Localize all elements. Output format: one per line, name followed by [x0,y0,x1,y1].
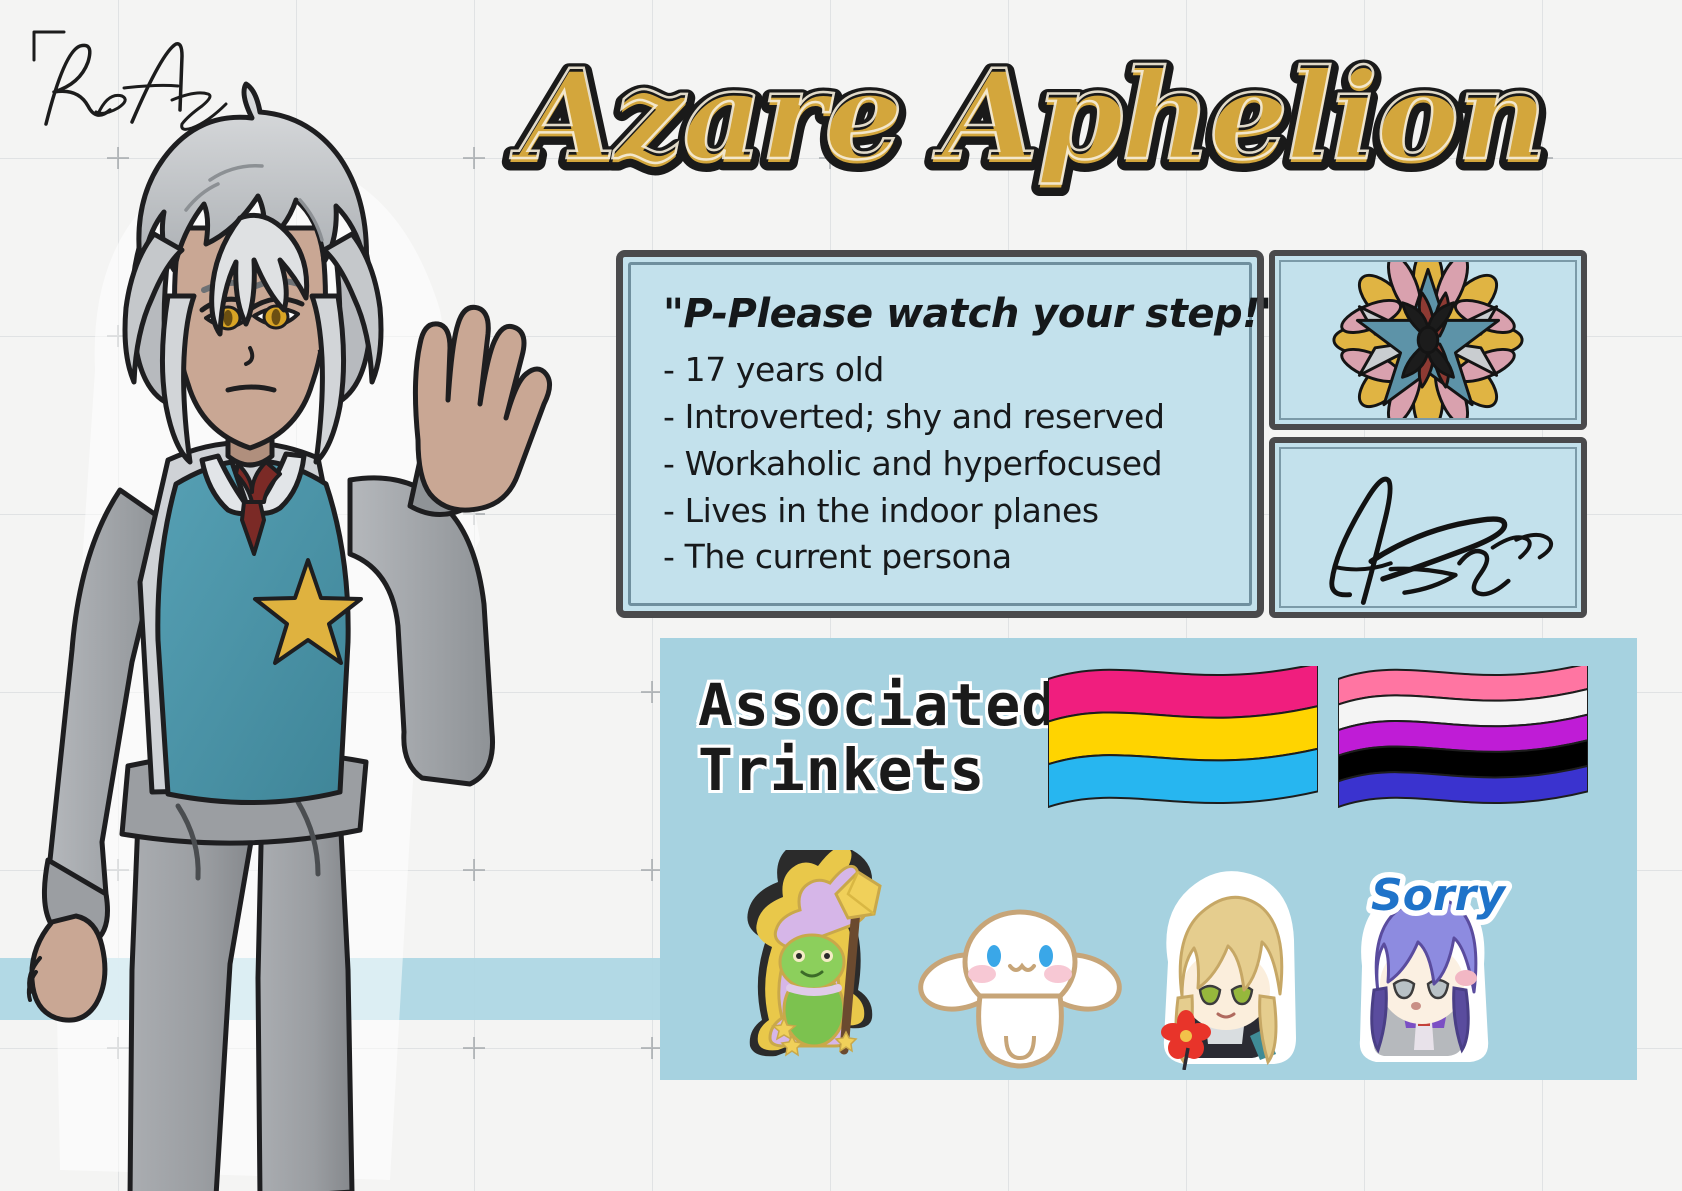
character-info-panel: "P-Please watch your step!" - 17 years o… [616,250,1264,618]
trinkets-heading-line-1: Associated [698,673,1057,738]
trinkets-heading: Associated Trinkets [698,673,1057,803]
svg-text:Sorry: Sorry [1371,870,1507,921]
waving-hand [415,307,549,510]
character-reference-sheet: Azare Aphelion Azare Aphelion Azare Aphe… [0,0,1682,1191]
sorry-word-label: SorrySorry [1371,870,1507,921]
associated-trinkets-panel: Associated Trinkets [660,638,1637,1080]
pansexual-flag [1048,666,1318,816]
azare-aphelion-illustration [0,60,620,1191]
white-bunny-plush [914,870,1124,1070]
emblem-panel [1269,250,1587,430]
character-quote: "P-Please watch your step!" [663,291,1223,337]
genderfluid-flag [1338,666,1588,816]
pride-flags-row [1048,666,1618,826]
sorry-chibi-sticker: SorrySorry [1330,850,1530,1070]
blonde-chibi-sticker [1132,850,1322,1070]
trait-item: - 17 years old [663,347,1223,394]
trait-item: - Introverted; shy and reserved [663,394,1223,441]
trinket-items-row: SorrySorry [706,848,1626,1070]
svg-text:Azare Aphelion: Azare Aphelion [510,43,1545,188]
character-traits-list: - 17 years old- Introverted; shy and res… [663,347,1223,581]
trinkets-heading-line-2: Trinkets [698,738,1057,803]
trait-item: - Lives in the indoor planes [663,488,1223,535]
watermark-signature [20,18,250,138]
page-title: Azare Aphelion Azare Aphelion Azare Aphe… [500,24,1560,214]
star-flower-emblem [1281,260,1575,420]
signature-panel [1269,437,1587,618]
character-signature [1281,447,1575,608]
trait-item: - Workaholic and hyperfocused [663,441,1223,488]
trait-item: - The current persona [663,534,1223,581]
frog-wizard-pin [706,850,906,1070]
